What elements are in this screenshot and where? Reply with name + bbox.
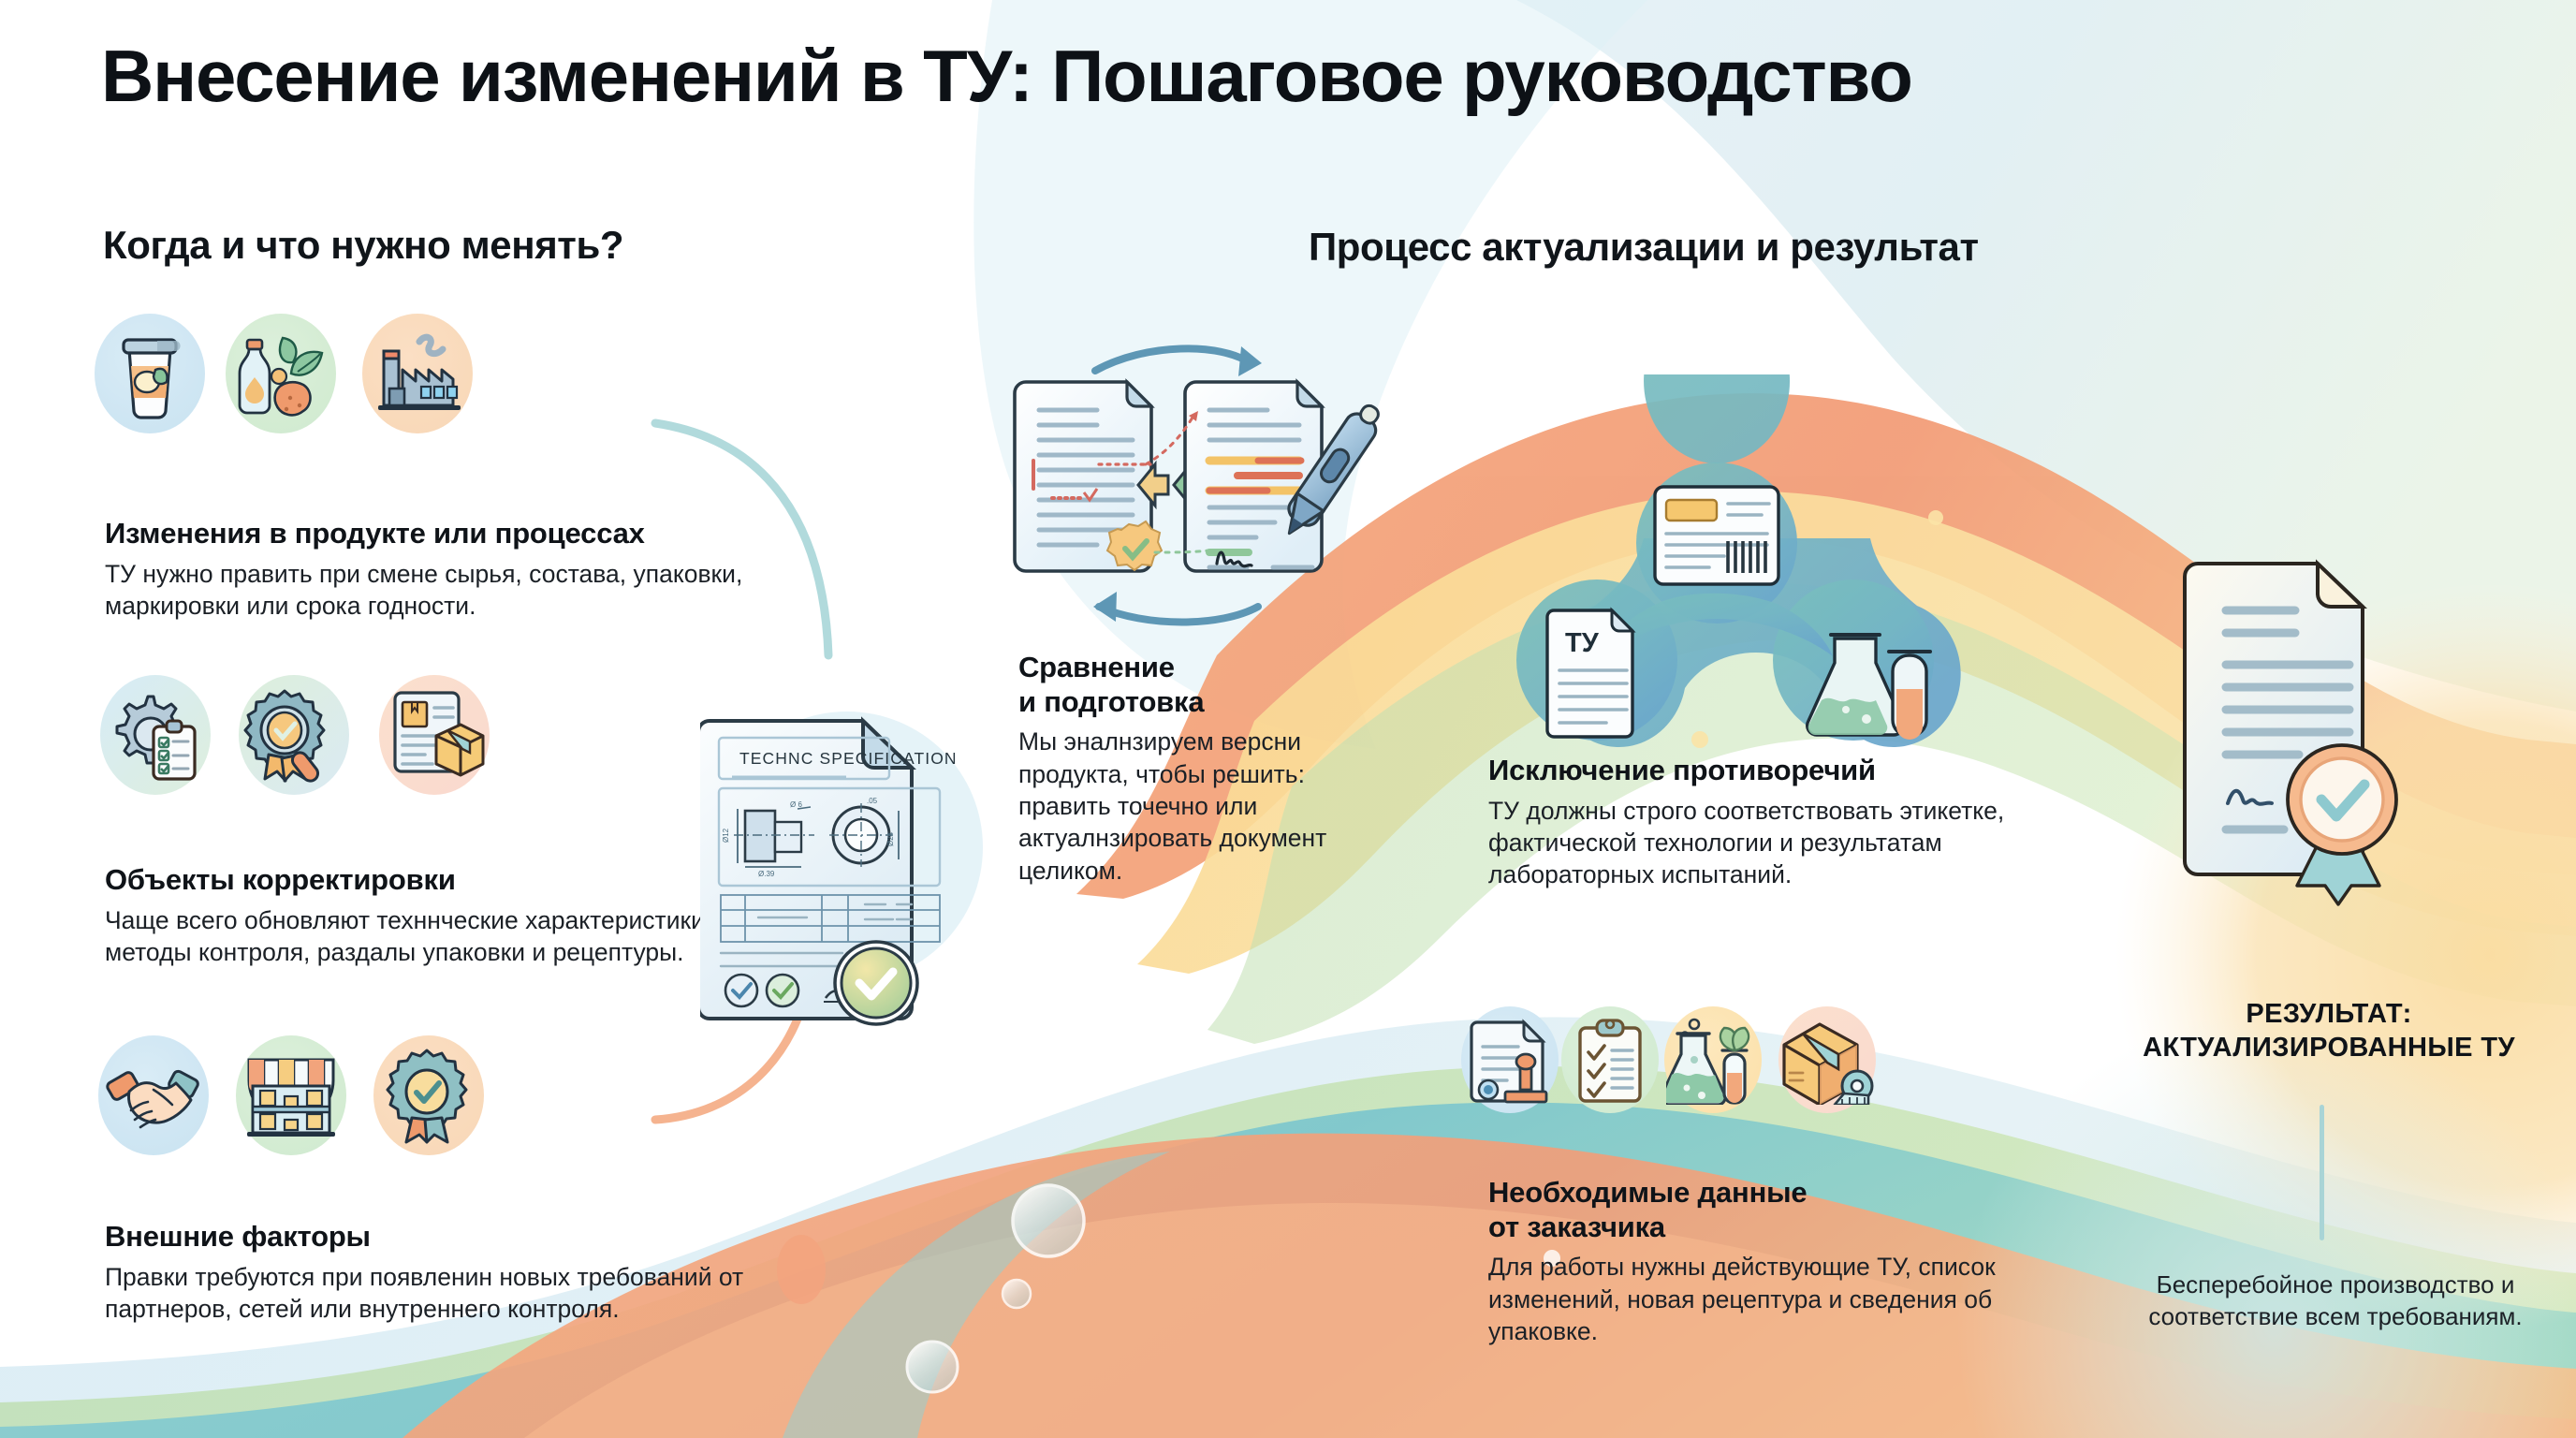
right-block-3-title-line1: Необходимые данные	[1488, 1176, 2087, 1211]
right-block-3: Необходимые данные от заказчика Для рабо…	[1488, 1176, 2087, 1347]
left-block-2-body: Чаще всего обновляют техннческие характе…	[105, 904, 798, 969]
spec-document-label: TECHNC SPECIFICATION	[739, 749, 958, 768]
svg-text:Ø24: Ø24	[886, 831, 895, 846]
compare-documents-illustration	[1005, 330, 1511, 643]
infographic-canvas: Внесение изменений в ТУ: Пошаговое руков…	[0, 0, 2576, 1438]
right-block-1-title-line2: и подготовка	[1018, 685, 1412, 720]
package-tape-icon	[1777, 1015, 1878, 1105]
left-block-1-body: ТУ нужно править при смене сырья, состав…	[105, 558, 798, 623]
right-block-1-title-line1: Сравнение	[1018, 651, 1412, 685]
left-block-1-title: Изменения в продукте или процессах	[105, 517, 798, 551]
left-block-1: Изменения в продукте или процессах ТУ ну…	[105, 517, 798, 622]
flask-plant-icon	[1666, 1015, 1760, 1105]
left-column-heading: Когда и что нужно менять?	[103, 223, 623, 268]
result-title: РЕЗУЛЬТАТ: АКТУАЛИЗИРОВАННЫЕ ТУ	[2104, 997, 2554, 1065]
right-block-1: Сравнение и подготовка Мы эналнзируем ве…	[1018, 651, 1412, 887]
result-title-line2: АКТУАЛИЗИРОВАННЫЕ ТУ	[2104, 1031, 2554, 1064]
factory-icon	[367, 325, 468, 422]
right-block-2-body: ТУ должны строго соответствовать этикетк…	[1488, 795, 2050, 891]
left-block-3-body: Правки требуются при появленин новых тре…	[105, 1261, 798, 1326]
document-box-icon	[382, 685, 487, 785]
molecule-illustration: ТУ	[1460, 374, 2022, 754]
handshake-icon	[105, 1049, 202, 1142]
left-block-3-icons	[105, 1047, 477, 1144]
left-block-1-icons	[105, 323, 468, 424]
right-block-2: Исключение противоречий ТУ должны строго…	[1488, 754, 2087, 891]
svg-text:.05: .05	[867, 797, 878, 805]
storefront-icon	[240, 1047, 343, 1144]
right-block-1-body: Мы эналнзируем версни продукта, чтобы ре…	[1018, 726, 1351, 887]
right-block-3-body: Для работы нужны действующие ТУ, список …	[1488, 1251, 2012, 1347]
gear-clipboard-icon	[105, 685, 206, 785]
clipboard-checklist-icon	[1571, 1015, 1649, 1105]
molecule-tu-label: ТУ	[1565, 628, 1600, 658]
right-column-heading: Процесс актуализации и результат	[1309, 225, 1979, 270]
stamped-document-icon	[1466, 1015, 1554, 1105]
svg-text:Ø 6: Ø 6	[790, 800, 802, 809]
award-check-icon	[380, 1047, 477, 1144]
svg-text:Ø12: Ø12	[722, 828, 730, 843]
certificate-seal-icon	[2183, 549, 2501, 946]
svg-text:Ø.39: Ø.39	[758, 870, 775, 878]
spec-document-illustration: TECHNC SPECIFICATION Ø12 Ø.39 Ø 6 Ø24 .0…	[700, 710, 962, 1031]
right-block-2-title: Исключение противоречий	[1488, 754, 2087, 788]
left-block-3: Внешние факторы Правки требуются при поя…	[105, 1220, 798, 1325]
result-subtitle: Бесперебойное производство и соответстви…	[2101, 1269, 2569, 1333]
left-block-2: Объекты корректировки Чаще всего обновля…	[105, 863, 798, 968]
result-divider	[2320, 1105, 2324, 1240]
left-block-2-icons	[105, 685, 487, 785]
page-title: Внесение изменений в ТУ: Пошаговое руков…	[101, 37, 1912, 115]
award-magnifier-icon	[243, 685, 344, 785]
left-block-3-title: Внешние факторы	[105, 1220, 798, 1255]
right-block-3-title-line2: от заказчика	[1488, 1211, 2087, 1245]
result-title-line1: РЕЗУЛЬТАТ:	[2104, 997, 2554, 1031]
bottle-leaves-icon	[232, 323, 329, 424]
left-block-2-title: Объекты корректировки	[105, 863, 798, 898]
coffee-cup-icon	[105, 323, 195, 424]
right-block-3-icons	[1466, 1015, 1878, 1105]
